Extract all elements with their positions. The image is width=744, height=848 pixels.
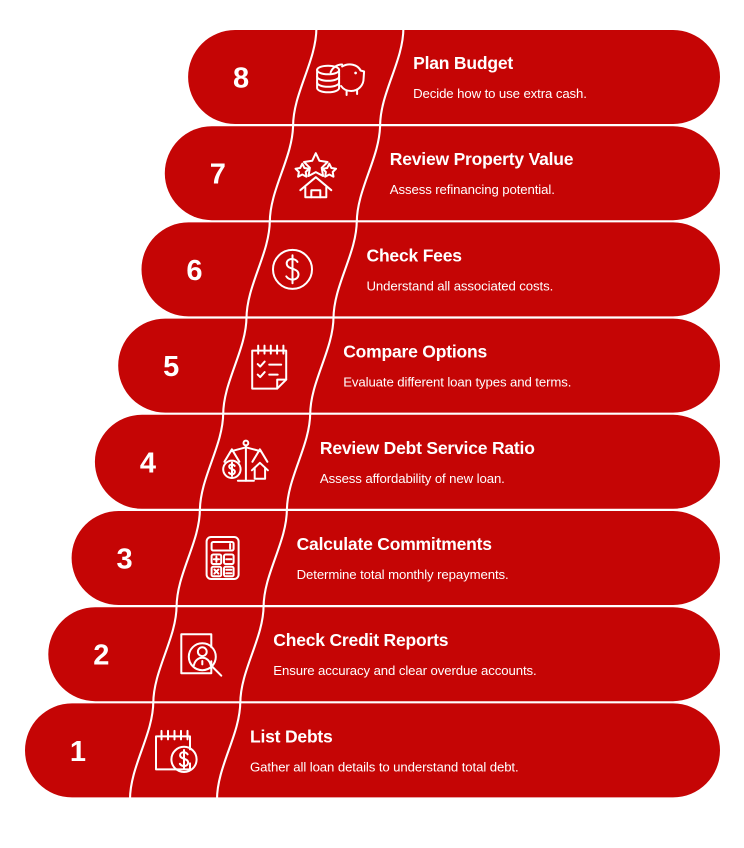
step-title: Calculate Commitments	[297, 534, 493, 554]
step-title: Review Debt Service Ratio	[320, 438, 535, 458]
step-description: Understand all associated costs.	[367, 278, 554, 293]
step-bar[interactable]	[95, 415, 720, 509]
step-number: 7	[210, 159, 226, 191]
step-bar[interactable]	[118, 319, 720, 413]
step-bar[interactable]	[165, 126, 720, 220]
step-description: Decide how to use extra cash.	[413, 86, 587, 101]
step-title: Check Credit Reports	[273, 630, 448, 650]
step-number: 8	[233, 63, 249, 95]
step-title: Plan Budget	[413, 53, 513, 73]
staircase-infographic: 8Plan BudgetDecide how to use extra cash…	[0, 0, 744, 848]
step-title: List Debts	[250, 726, 333, 746]
step-description: Evaluate different loan types and terms.	[343, 375, 571, 390]
step-title: Compare Options	[343, 342, 487, 362]
step-bar[interactable]	[72, 511, 720, 605]
step-bar[interactable]	[142, 222, 721, 316]
step-description: Ensure accuracy and clear overdue accoun…	[273, 663, 536, 678]
step-number: 6	[186, 255, 202, 287]
step-description: Determine total monthly repayments.	[297, 567, 509, 582]
step-description: Assess refinancing potential.	[390, 182, 555, 197]
step-description: Assess affordability of new loan.	[320, 471, 505, 486]
step-title: Review Property Value	[390, 149, 574, 169]
step-number: 2	[93, 640, 109, 672]
infographic-canvas: 8Plan BudgetDecide how to use extra cash…	[0, 0, 744, 848]
step-number: 5	[163, 351, 179, 383]
step-title: Check Fees	[367, 245, 463, 265]
step-bar[interactable]	[188, 30, 720, 124]
step-bar[interactable]	[25, 703, 720, 797]
step-number: 1	[70, 736, 86, 768]
step-number: 4	[140, 447, 156, 479]
step-bar[interactable]	[48, 607, 720, 701]
step-description: Gather all loan details to understand to…	[250, 759, 519, 774]
step-number: 3	[117, 544, 133, 576]
